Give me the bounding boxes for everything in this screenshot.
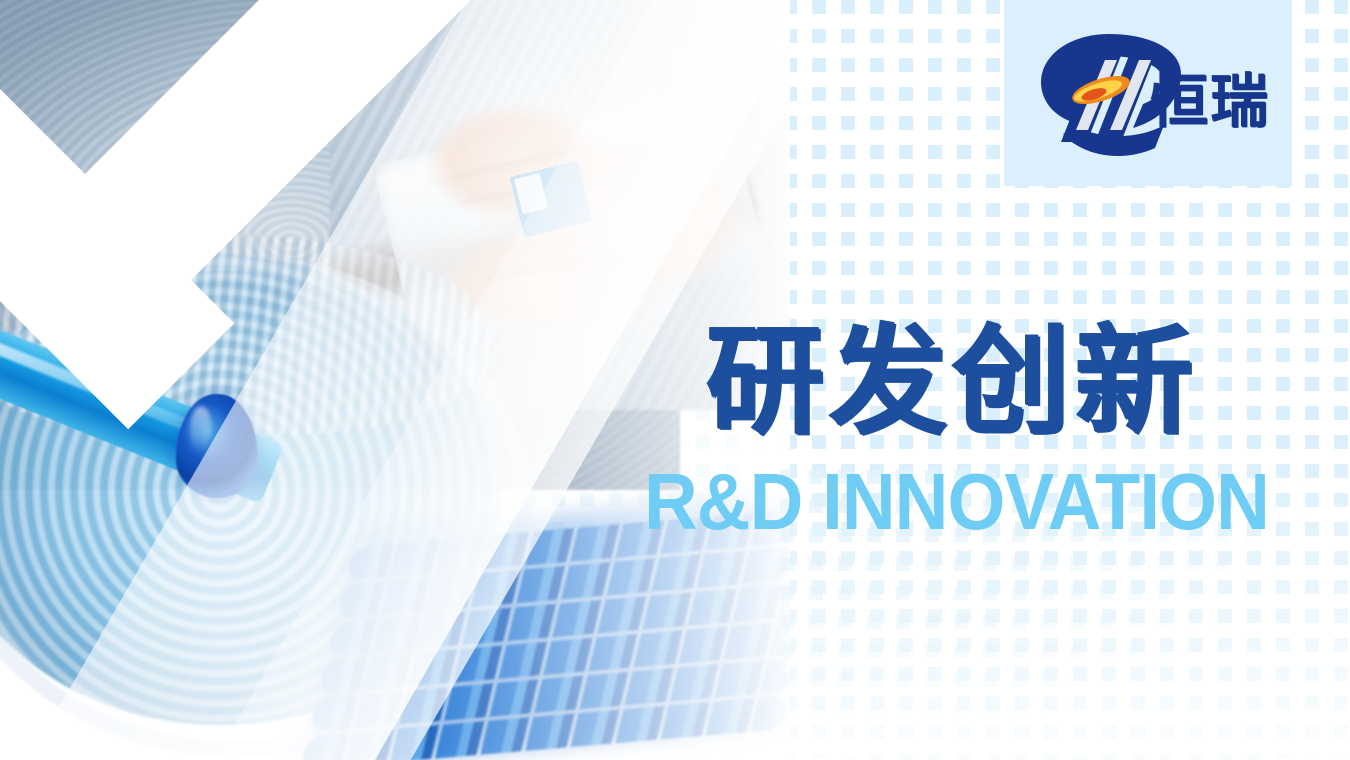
headline-english: R&D INNOVATION [644,462,1269,542]
logo-company-name-cn: 恒瑞 [1150,72,1270,130]
photo-collage [0,0,790,760]
rd-innovation-banner: 恒瑞 研发创新 R&D INNOVATION [0,0,1350,760]
headline-chinese: 研发创新 [706,322,1198,440]
